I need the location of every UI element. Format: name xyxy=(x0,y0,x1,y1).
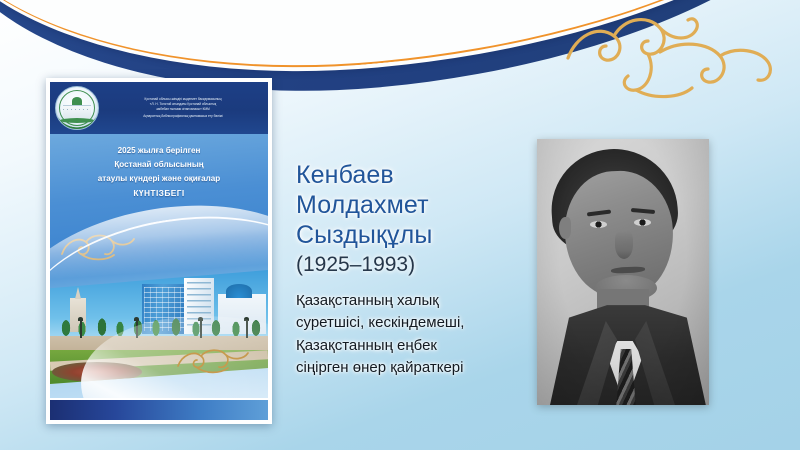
person-description-line2: суретшісі, кескіндемеші, xyxy=(296,312,531,335)
poster-header: Қостанай облысы әкімдігі мәдениет басқар… xyxy=(50,82,268,134)
person-surname: Кенбаев xyxy=(296,160,531,190)
person-life-years: (1925–1993) xyxy=(296,252,531,279)
kazakh-ornament-small-icon xyxy=(174,344,260,376)
poster-bottom-ornament-area xyxy=(174,344,260,376)
person-info-block: Кенбаев Молдахмет Сыздықұлы (1925–1993) … xyxy=(296,160,531,380)
top-right-ornament-area xyxy=(540,0,800,116)
poster-header-department: Ақпараттық-библиографиялық қамтамасыз ет… xyxy=(104,114,262,119)
person-description-line4: сіңірген өнер қайраткері xyxy=(296,357,531,380)
poster-footer-bar xyxy=(50,398,268,420)
kazakh-koshkar-muyiz-ornament-icon xyxy=(540,0,800,116)
person-description-line1: Қазақстанның халық xyxy=(296,290,531,313)
moldakhmet-kenbayev-portrait xyxy=(537,139,709,405)
poster-title-line2: Қостанай облысының xyxy=(58,158,260,172)
poster-inner: Қостанай облысы әкімдігі мәдениет басқар… xyxy=(50,82,268,420)
person-description-line3: Қазақстанның еңбек xyxy=(296,335,531,358)
poster-title: 2025 жылға берілген Қостанай облысының а… xyxy=(50,144,268,200)
slide: Қостанай облысы әкімдігі мәдениет басқар… xyxy=(0,0,800,450)
calendar-poster-card: Қостанай облысы әкімдігі мәдениет басқар… xyxy=(46,78,272,424)
poster-title-line3: атаулы күндері және оқиғалар xyxy=(58,172,260,186)
person-firstname: Молдахмет xyxy=(296,190,531,220)
poster-header-text: Қостанай облысы әкімдігі мәдениет басқар… xyxy=(99,97,262,119)
person-patronymic: Сыздықұлы xyxy=(296,220,531,250)
poster-title-line1: 2025 жылға берілген xyxy=(58,144,260,158)
poster-title-line4: КҮНТІЗБЕГІ xyxy=(58,186,260,200)
library-emblem-icon xyxy=(55,86,99,130)
person-description: Қазақстанның халық суретшісі, кескіндеме… xyxy=(296,290,531,380)
